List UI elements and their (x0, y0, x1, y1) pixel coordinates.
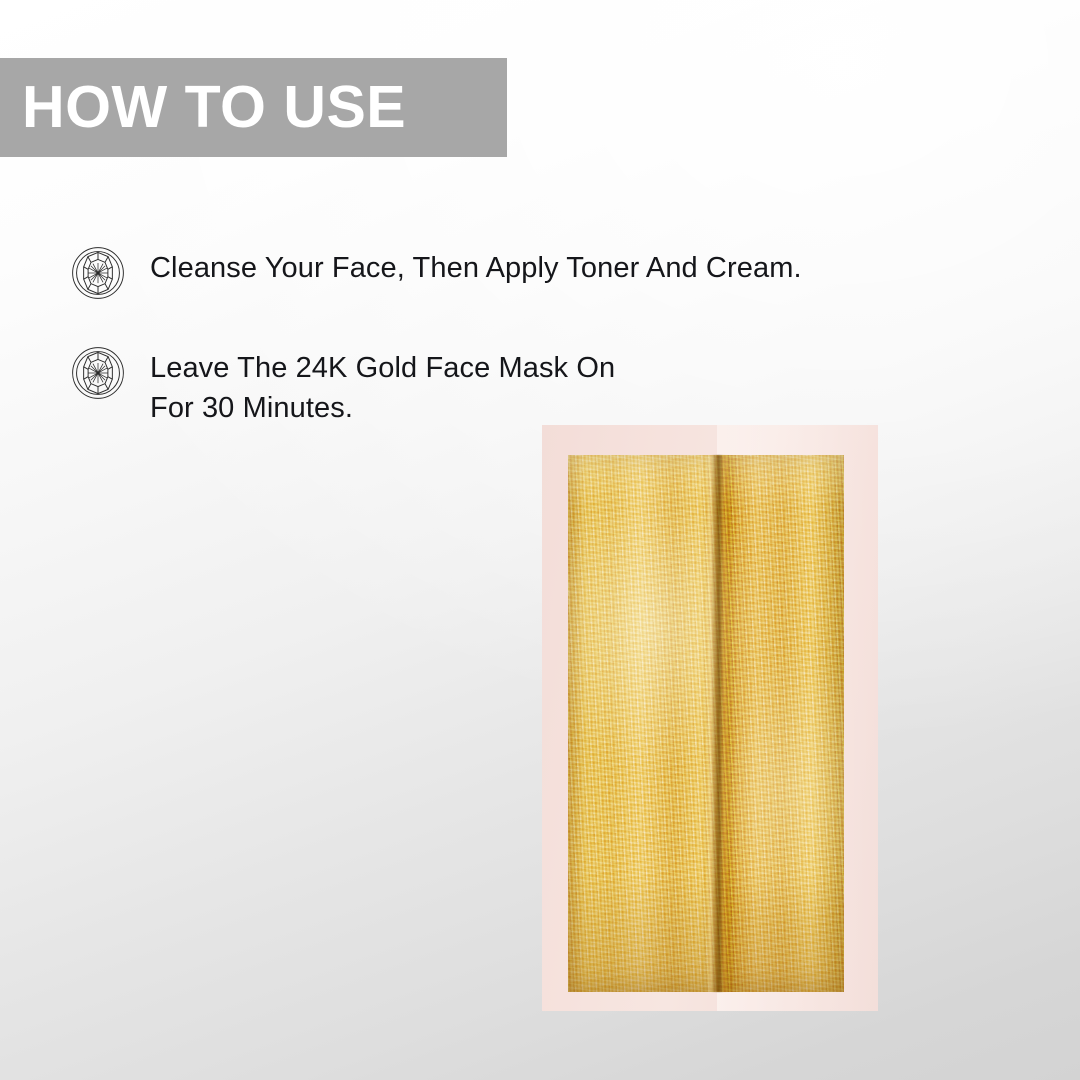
how-to-use-banner: HOW TO USE (0, 58, 507, 157)
page-title: HOW TO USE (22, 78, 406, 137)
diamond-gem-icon (70, 245, 126, 301)
list-item: Cleanse Your Face, Then Apply Toner And … (70, 243, 950, 301)
gold-foil-sheet-image (542, 425, 878, 1011)
infographic-canvas: HOW TO USE (0, 0, 1080, 1080)
list-item: Leave The 24K Gold Face Mask On For 30 M… (70, 343, 950, 428)
step-text: Cleanse Your Face, Then Apply Toner And … (150, 243, 802, 288)
step-text: Leave The 24K Gold Face Mask On For 30 M… (150, 343, 615, 428)
gold-leaf-crease (705, 455, 731, 992)
diamond-gem-icon (70, 345, 126, 401)
gold-leaf (568, 455, 844, 992)
